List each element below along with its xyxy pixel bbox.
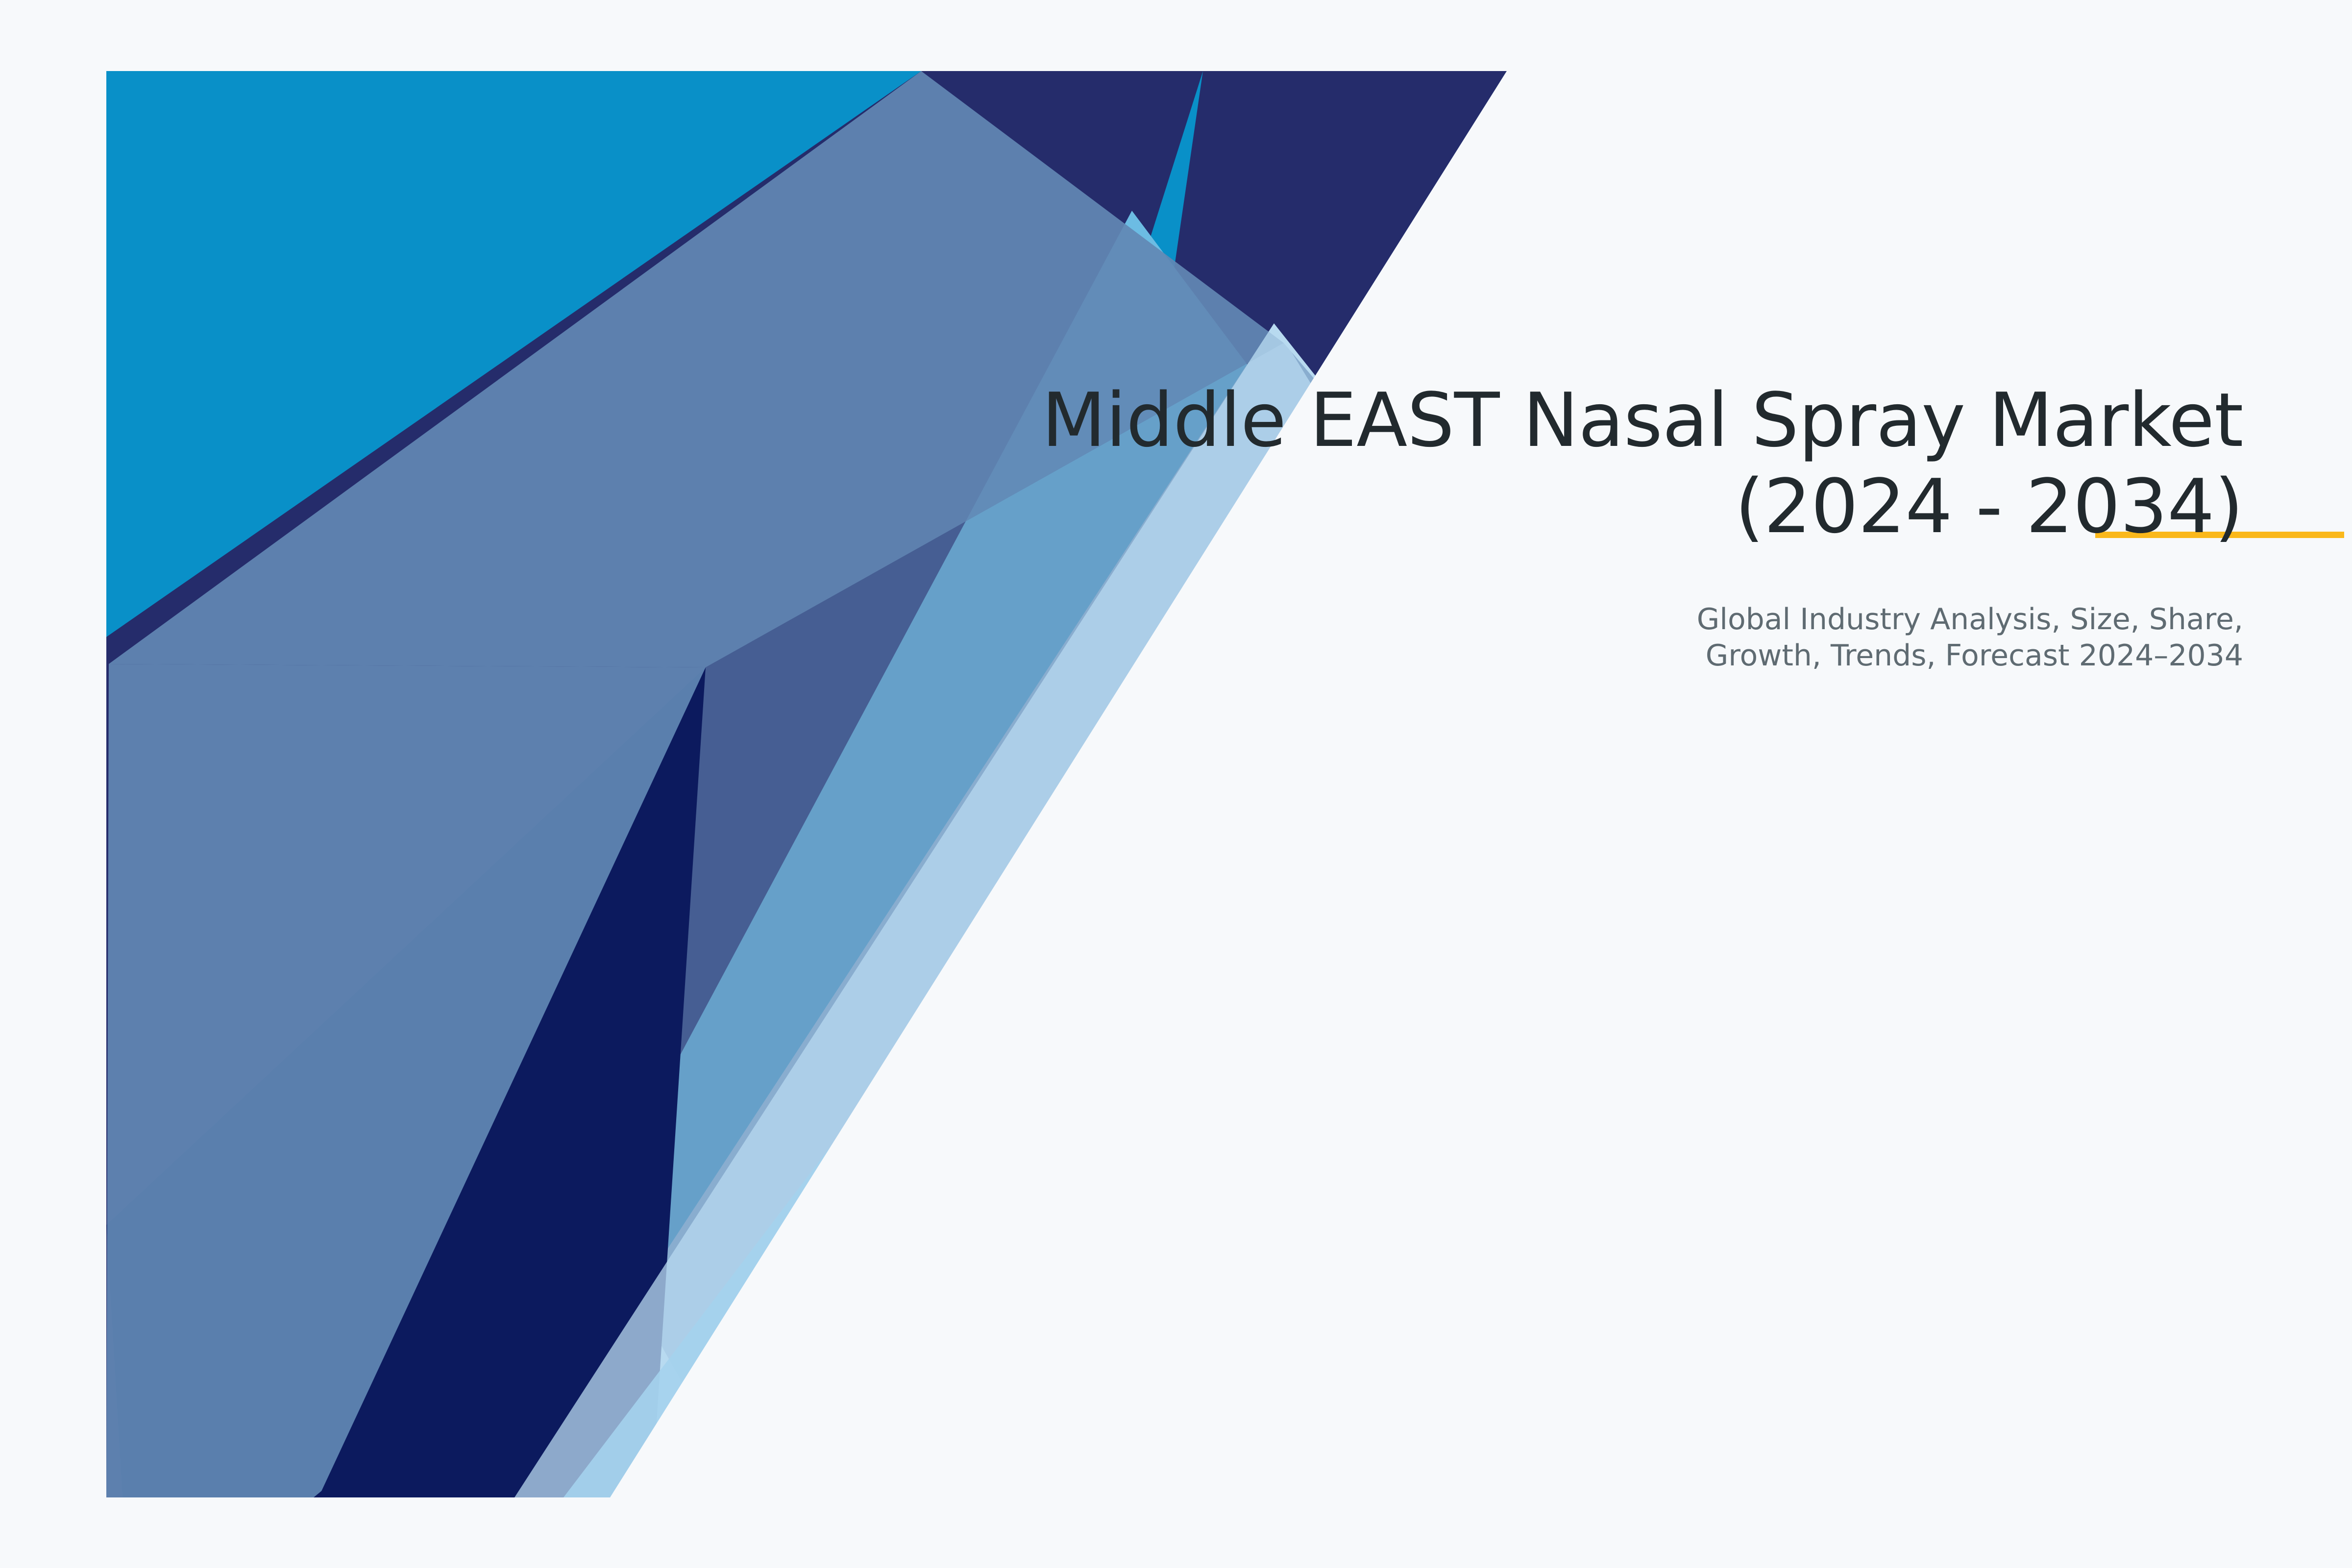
geometric-artwork bbox=[0, 0, 2352, 1568]
report-cover-page: Middle EAST Nasal Spray Market (2024 - 2… bbox=[0, 0, 2352, 1568]
cover-text-block: Middle EAST Nasal Spray Market (2024 - 2… bbox=[773, 377, 2243, 674]
page-subtitle: Global Industry Analysis, Size, Share, G… bbox=[773, 550, 2243, 674]
page-title: Middle EAST Nasal Spray Market (2024 - 2… bbox=[773, 377, 2243, 550]
